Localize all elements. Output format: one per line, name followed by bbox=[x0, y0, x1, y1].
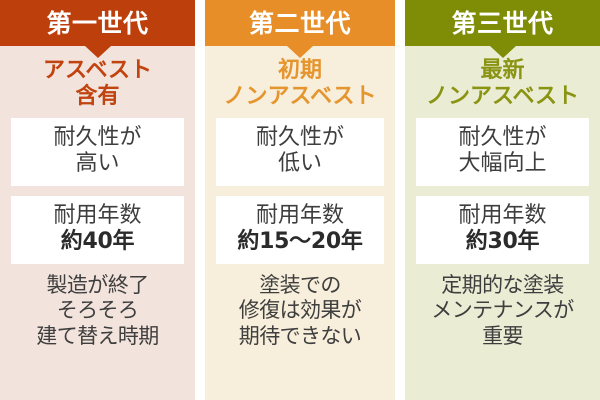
durability-box: 耐久性が 低い bbox=[216, 118, 384, 186]
durability-box: 耐久性が 大幅向上 bbox=[416, 118, 589, 186]
lifespan-value: 約15〜20年 bbox=[216, 229, 384, 255]
note-text: 定期的な塗装 メンテナンスが 重要 bbox=[431, 273, 573, 350]
lifespan-box: 耐用年数 約40年 bbox=[11, 196, 184, 264]
subtitle: 最新 ノンアスベスト bbox=[426, 58, 579, 109]
durability-label: 耐久性が 大幅向上 bbox=[416, 125, 589, 178]
durability-box: 耐久性が 高い bbox=[11, 118, 184, 186]
lifespan-label: 耐用年数 bbox=[11, 203, 184, 229]
column-second-generation: 第二世代 初期 ノンアスベスト 耐久性が 低い 耐用年数 約15〜20年 塗装で… bbox=[205, 0, 395, 400]
note-text: 塗装での 修復は効果が 期待できない bbox=[239, 273, 361, 350]
lifespan-value: 約40年 bbox=[11, 229, 184, 255]
column-first-generation: 第一世代 アスベスト 含有 耐久性が 高い 耐用年数 約40年 製造が終了 そろ… bbox=[0, 0, 195, 400]
column-header-second-generation: 第二世代 bbox=[205, 0, 395, 46]
lifespan-value: 約30年 bbox=[416, 229, 589, 255]
header-arrow-icon bbox=[490, 46, 516, 58]
durability-label: 耐久性が 高い bbox=[11, 125, 184, 178]
header-title: 第三世代 bbox=[451, 11, 553, 36]
header-arrow-icon bbox=[287, 46, 313, 58]
lifespan-label: 耐用年数 bbox=[216, 203, 384, 229]
note-text: 製造が終了 そろそろ 建て替え時期 bbox=[36, 273, 158, 350]
durability-label: 耐久性が 低い bbox=[216, 125, 384, 178]
generation-comparison-board: 第一世代 アスベスト 含有 耐久性が 高い 耐用年数 約40年 製造が終了 そろ… bbox=[0, 0, 600, 400]
column-header-first-generation: 第一世代 bbox=[0, 0, 195, 46]
subtitle: アスベスト 含有 bbox=[43, 58, 152, 109]
lifespan-box: 耐用年数 約15〜20年 bbox=[216, 196, 384, 264]
column-body-first-generation: アスベスト 含有 耐久性が 高い 耐用年数 約40年 製造が終了 そろそろ 建て… bbox=[0, 46, 195, 400]
lifespan-box: 耐用年数 約30年 bbox=[416, 196, 589, 264]
subtitle: 初期 ノンアスベスト bbox=[224, 58, 377, 109]
column-body-third-generation: 最新 ノンアスベスト 耐久性が 大幅向上 耐用年数 約30年 定期的な塗装 メン… bbox=[405, 46, 600, 400]
header-title: 第一世代 bbox=[46, 11, 148, 36]
column-header-third-generation: 第三世代 bbox=[405, 0, 600, 46]
column-third-generation: 第三世代 最新 ノンアスベスト 耐久性が 大幅向上 耐用年数 約30年 定期的な… bbox=[405, 0, 600, 400]
header-title: 第二世代 bbox=[249, 11, 351, 36]
lifespan-label: 耐用年数 bbox=[416, 203, 589, 229]
column-body-second-generation: 初期 ノンアスベスト 耐久性が 低い 耐用年数 約15〜20年 塗装での 修復は… bbox=[205, 46, 395, 400]
header-arrow-icon bbox=[85, 46, 111, 58]
